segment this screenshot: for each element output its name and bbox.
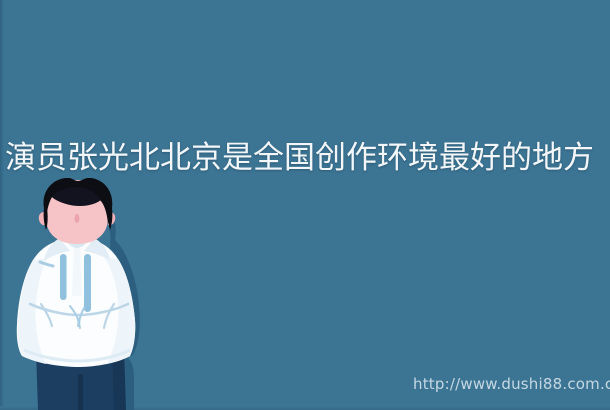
- head: [39, 178, 116, 244]
- left-edge-shade: [0, 0, 4, 410]
- thumbnail-canvas: 演员张光北北京是全国创作环境最好的地方 http://www.dushi88.c…: [0, 0, 610, 410]
- watermark-url: http://www.dushi88.com.cn: [413, 375, 610, 393]
- page-title: 演员张光北北京是全国创作环境最好的地方: [5, 139, 609, 178]
- person-illustration: [8, 178, 153, 410]
